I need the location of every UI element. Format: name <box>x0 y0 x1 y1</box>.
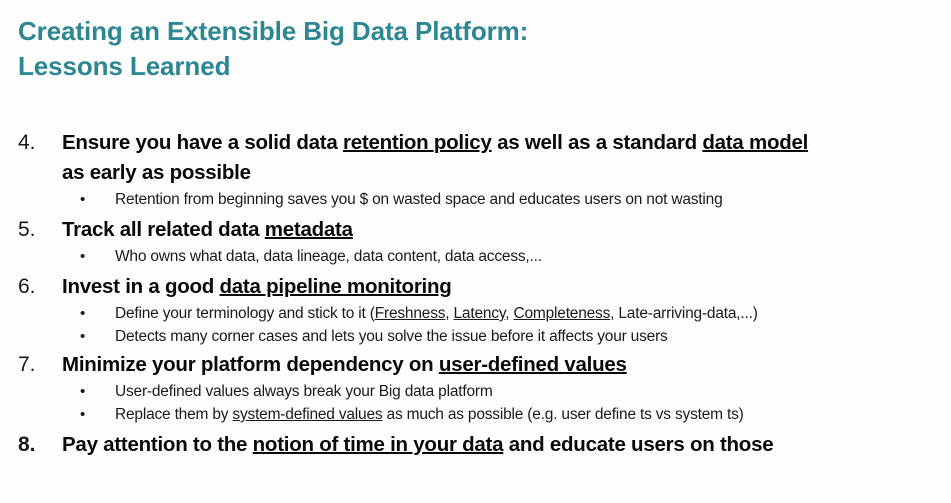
sub-bullet-list: •User-defined values always break your B… <box>0 380 951 426</box>
bullet-dot-icon: • <box>80 188 85 211</box>
list-item-number: 5. <box>18 215 36 245</box>
text-run: as well as a standard <box>492 131 703 154</box>
underlined-term: Freshness <box>375 305 446 322</box>
list-item-number: 8. <box>18 430 36 460</box>
spacer <box>0 460 951 464</box>
bullet-dot-icon: • <box>80 325 85 348</box>
text-run: and educate users on those <box>503 433 773 456</box>
text-run: Track all related data <box>62 218 265 241</box>
slide-canvas: Creating an Extensible Big Data Platform… <box>0 0 951 503</box>
bullet-dot-icon: • <box>80 302 85 325</box>
title-line-2: Lessons Learned <box>18 49 918 84</box>
numbered-list-item: 8.Pay attention to the notion of time in… <box>0 430 951 460</box>
sub-bullet-item: •Who owns what data, data lineage, data … <box>0 245 951 268</box>
sub-bullet-text: User-defined values always break your Bi… <box>115 383 493 400</box>
text-run: Pay attention to the <box>62 433 253 456</box>
underlined-term: retention policy <box>343 131 492 154</box>
sub-bullet-item: •Retention from beginning saves you $ on… <box>0 188 951 211</box>
text-run: , Late-arriving-data,...) <box>610 305 757 322</box>
underlined-term: data model <box>702 131 808 154</box>
slide-title: Creating an Extensible Big Data Platform… <box>18 14 918 84</box>
text-run: Replace them by <box>115 406 232 423</box>
sub-bullet-item: •User-defined values always break your B… <box>0 380 951 403</box>
text-run: , <box>445 305 453 322</box>
sub-bullet-list: •Who owns what data, data lineage, data … <box>0 245 951 268</box>
underlined-term: metadata <box>265 218 353 241</box>
list-item-headline: Minimize your platform dependency on use… <box>62 350 951 380</box>
text-run: as early as possible <box>62 161 251 184</box>
text-run: Who owns what data, data lineage, data c… <box>115 248 542 265</box>
underlined-term: system-defined values <box>232 406 382 423</box>
bullet-dot-icon: • <box>80 403 85 426</box>
numbered-list-item: 6.Invest in a good data pipeline monitor… <box>0 272 951 302</box>
list-item-number: 7. <box>18 350 36 380</box>
text-run: Ensure you have a solid data <box>62 131 343 154</box>
sub-bullet-text: Detects many corner cases and lets you s… <box>115 328 668 345</box>
list-item-number: 4. <box>18 128 36 158</box>
sub-bullet-text: Retention from beginning saves you $ on … <box>115 191 723 208</box>
text-run: Detects many corner cases and lets you s… <box>115 328 668 345</box>
text-run: User-defined values always break your Bi… <box>115 383 493 400</box>
text-run: Define your terminology and stick to it … <box>115 305 375 322</box>
numbered-list: 4.Ensure you have a solid data retention… <box>0 128 951 464</box>
underlined-term: notion of time in your data <box>253 433 504 456</box>
bullet-dot-icon: • <box>80 380 85 403</box>
title-line-1: Creating an Extensible Big Data Platform… <box>18 14 918 49</box>
sub-bullet-item: •Detects many corner cases and lets you … <box>0 325 951 348</box>
list-item-headline: Invest in a good data pipeline monitorin… <box>62 272 951 302</box>
list-item-number: 6. <box>18 272 36 302</box>
text-run: as much as possible (e.g. user define ts… <box>382 406 743 423</box>
text-run: Minimize your platform dependency on <box>62 353 439 376</box>
text-run: Invest in a good <box>62 275 220 298</box>
list-item-headline: Pay attention to the notion of time in y… <box>62 430 951 460</box>
sub-bullet-text: Define your terminology and stick to it … <box>115 305 758 322</box>
sub-bullet-item: •Replace them by system-defined values a… <box>0 403 951 426</box>
list-item-headline: Ensure you have a solid data retention p… <box>62 128 951 158</box>
numbered-list-item: 7.Minimize your platform dependency on u… <box>0 350 951 380</box>
sub-bullet-list: •Retention from beginning saves you $ on… <box>0 188 951 211</box>
list-item-headline: Track all related data metadata <box>62 215 951 245</box>
numbered-list-item: 4.Ensure you have a solid data retention… <box>0 128 951 188</box>
text-run: Retention from beginning saves you $ on … <box>115 191 723 208</box>
sub-bullet-item: •Define your terminology and stick to it… <box>0 302 951 325</box>
numbered-list-item: 5.Track all related data metadata <box>0 215 951 245</box>
underlined-term: Latency <box>454 305 506 322</box>
underlined-term: user-defined values <box>439 353 627 376</box>
underlined-term: Completeness <box>513 305 610 322</box>
sub-bullet-list: •Define your terminology and stick to it… <box>0 302 951 348</box>
bullet-dot-icon: • <box>80 245 85 268</box>
underlined-term: data pipeline monitoring <box>220 275 452 298</box>
list-item-headline-continued: as early as possible <box>62 158 951 188</box>
sub-bullet-text: Who owns what data, data lineage, data c… <box>115 248 542 265</box>
sub-bullet-text: Replace them by system-defined values as… <box>115 406 744 423</box>
